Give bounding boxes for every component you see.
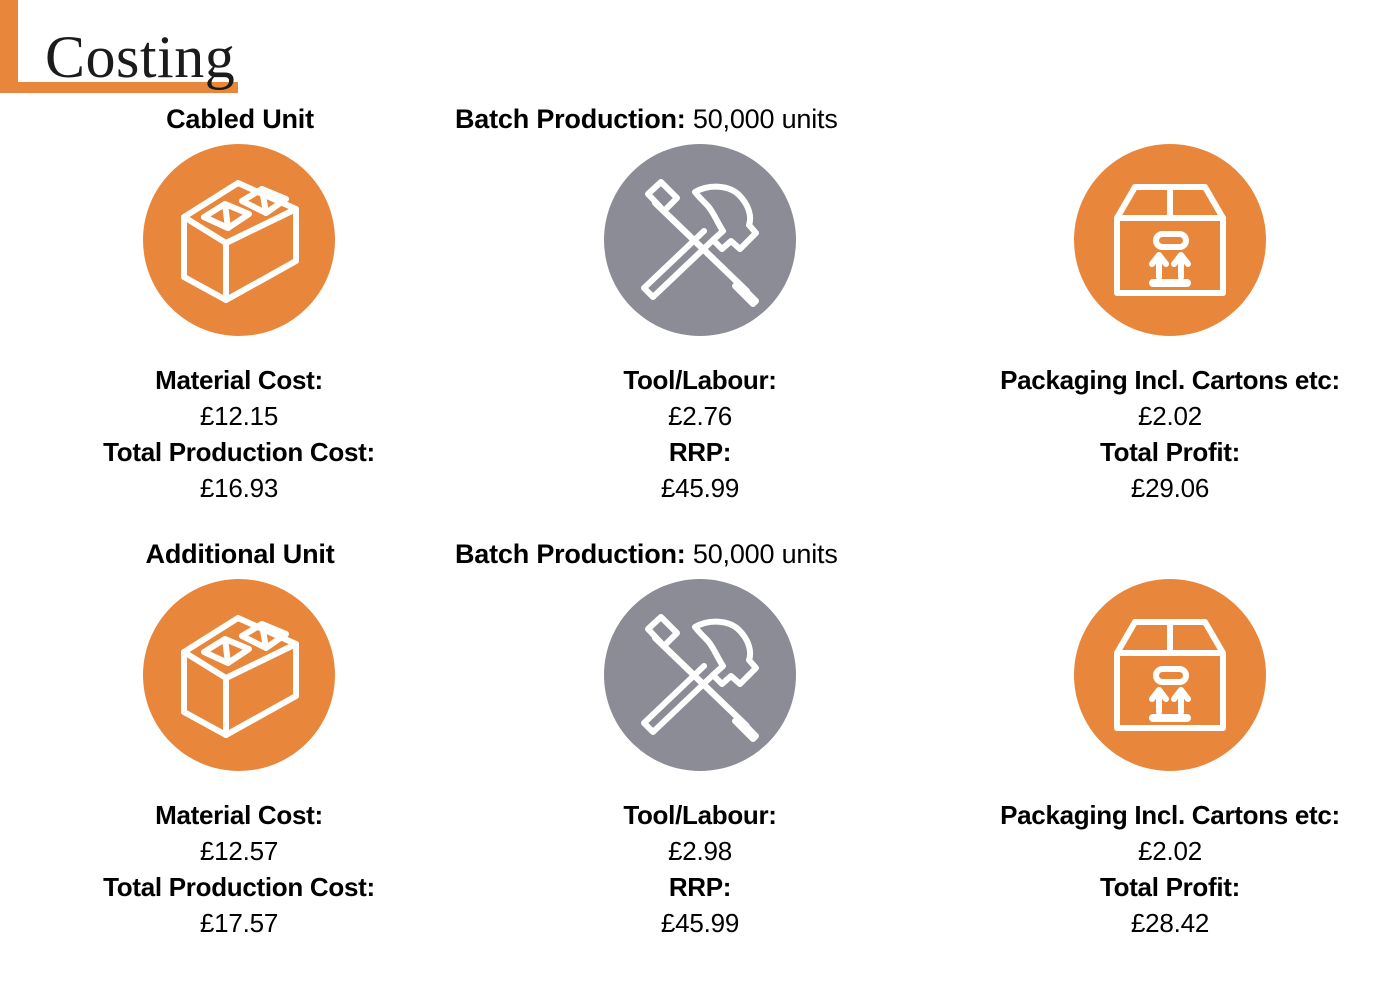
stat-label: Total Profit: bbox=[950, 434, 1390, 470]
stat-label: Tool/Labour: bbox=[480, 797, 920, 833]
cost-card-material: Material Cost: £12.57 Total Production C… bbox=[19, 579, 459, 941]
stat-value: £12.15 bbox=[19, 398, 459, 434]
stat-value: £16.93 bbox=[19, 470, 459, 506]
cost-card-packaging: Packaging Incl. Cartons etc: £2.02 Total… bbox=[950, 579, 1390, 941]
stat-label: Material Cost: bbox=[19, 362, 459, 398]
stat-list: Material Cost: £12.15 Total Production C… bbox=[19, 362, 459, 506]
stat-value: £29.06 bbox=[950, 470, 1390, 506]
cards-row: Material Cost: £12.15 Total Production C… bbox=[0, 144, 1400, 534]
stat-value: £28.42 bbox=[950, 905, 1390, 941]
unit-name-label: Cabled Unit bbox=[70, 104, 410, 135]
stat-label: Material Cost: bbox=[19, 797, 459, 833]
stat-label: Tool/Labour: bbox=[480, 362, 920, 398]
shipping-box-icon bbox=[1074, 579, 1266, 771]
cost-card-tool-labour: Tool/Labour: £2.98 RRP: £45.99 bbox=[480, 579, 920, 941]
stat-value: £45.99 bbox=[480, 470, 920, 506]
stat-value: £45.99 bbox=[480, 905, 920, 941]
title-accent-bar-vertical bbox=[0, 0, 18, 93]
stat-list: Tool/Labour: £2.76 RRP: £45.99 bbox=[480, 362, 920, 506]
stat-label: Total Production Cost: bbox=[19, 869, 459, 905]
section-header: Additional Unit Batch Production: 50,000… bbox=[0, 539, 1400, 579]
cost-card-packaging: Packaging Incl. Cartons etc: £2.02 Total… bbox=[950, 144, 1390, 506]
stat-value: £2.98 bbox=[480, 833, 920, 869]
stat-value: £17.57 bbox=[19, 905, 459, 941]
stat-value: £2.76 bbox=[480, 398, 920, 434]
batch-production-value: 50,000 units bbox=[686, 104, 838, 134]
stat-value: £2.02 bbox=[950, 833, 1390, 869]
stat-value: £12.57 bbox=[19, 833, 459, 869]
stat-value: £2.02 bbox=[950, 398, 1390, 434]
hammer-screwdriver-icon bbox=[604, 144, 796, 336]
hammer-screwdriver-icon bbox=[604, 579, 796, 771]
stat-label: Total Production Cost: bbox=[19, 434, 459, 470]
stat-label: Total Profit: bbox=[950, 869, 1390, 905]
page-title: Costing bbox=[45, 24, 235, 90]
stat-list: Packaging Incl. Cartons etc: £2.02 Total… bbox=[950, 797, 1390, 941]
stat-list: Material Cost: £12.57 Total Production C… bbox=[19, 797, 459, 941]
cinder-block-icon bbox=[143, 579, 335, 771]
batch-production-line: Batch Production: 50,000 units bbox=[455, 539, 838, 570]
cinder-block-icon bbox=[143, 144, 335, 336]
batch-production-value: 50,000 units bbox=[686, 539, 838, 569]
shipping-box-icon bbox=[1074, 144, 1266, 336]
stat-label: Packaging Incl. Cartons etc: bbox=[950, 797, 1390, 833]
batch-production-label: Batch Production: bbox=[455, 539, 686, 569]
stat-label: Packaging Incl. Cartons etc: bbox=[950, 362, 1390, 398]
cost-card-material: Material Cost: £12.15 Total Production C… bbox=[19, 144, 459, 506]
batch-production-label: Batch Production: bbox=[455, 104, 686, 134]
stat-label: RRP: bbox=[480, 869, 920, 905]
stat-list: Tool/Labour: £2.98 RRP: £45.99 bbox=[480, 797, 920, 941]
section-header: Cabled Unit Batch Production: 50,000 uni… bbox=[0, 104, 1400, 144]
unit-name-label: Additional Unit bbox=[70, 539, 410, 570]
cards-row: Material Cost: £12.57 Total Production C… bbox=[0, 579, 1400, 969]
batch-production-line: Batch Production: 50,000 units bbox=[455, 104, 838, 135]
cost-card-tool-labour: Tool/Labour: £2.76 RRP: £45.99 bbox=[480, 144, 920, 506]
costing-section-additional-unit: Additional Unit Batch Production: 50,000… bbox=[0, 539, 1400, 969]
stat-label: RRP: bbox=[480, 434, 920, 470]
stat-list: Packaging Incl. Cartons etc: £2.02 Total… bbox=[950, 362, 1390, 506]
costing-section-cabled-unit: Cabled Unit Batch Production: 50,000 uni… bbox=[0, 104, 1400, 534]
